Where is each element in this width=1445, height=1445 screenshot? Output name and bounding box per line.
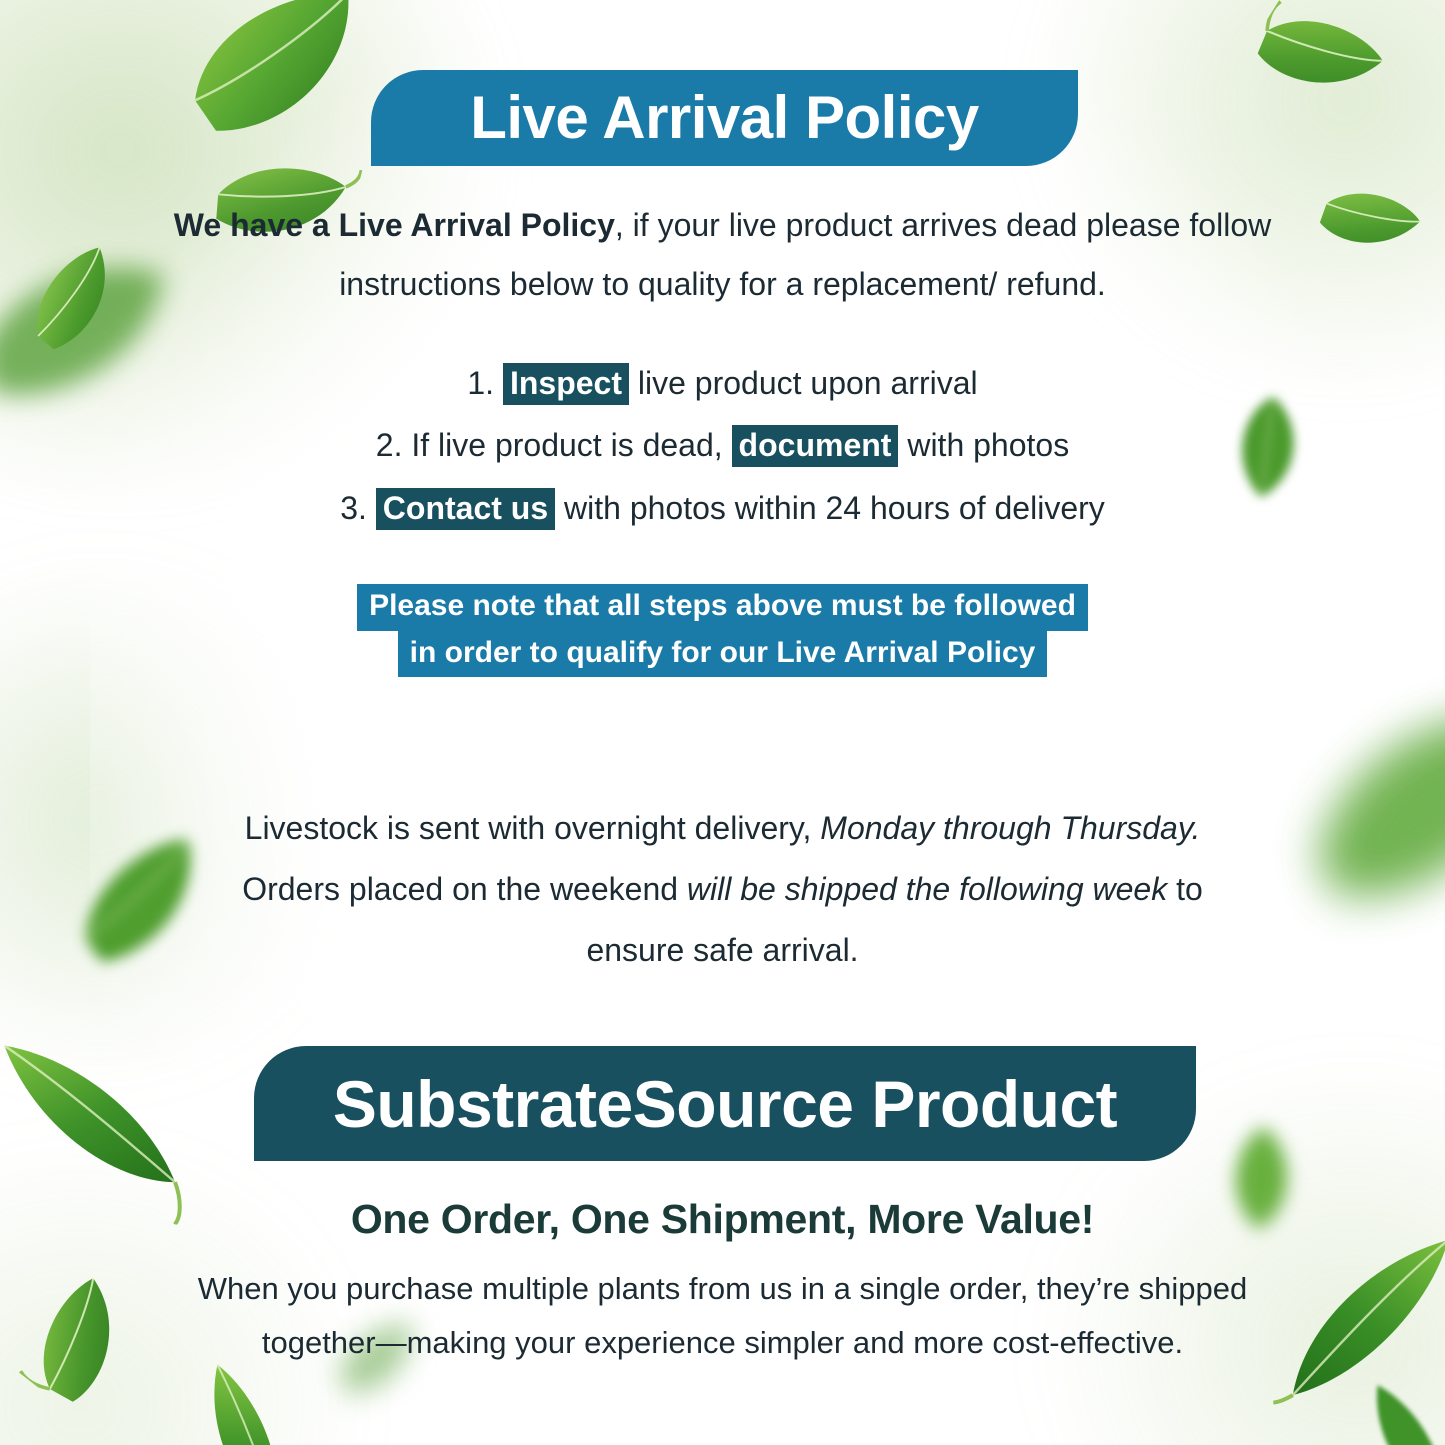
leaf-icon [1262,1232,1445,1415]
step-post: with photos within 24 hours of delivery [564,490,1105,526]
step-post: with photos [907,427,1069,463]
leaf-icon [1279,665,1445,944]
step-highlight: Inspect [503,363,629,405]
live-arrival-policy-banner: Live Arrival Policy [371,70,1078,166]
background-wash-top-right [1045,0,1445,380]
note-line-2: in order to qualify for our Live Arrival… [398,631,1048,678]
intro-paragraph: We have a Live Arrival Policy, if your l… [160,196,1285,314]
list-item: 1. Inspect live product upon arrival [160,352,1285,414]
outro-line-1: When you purchase multiple plants from u… [198,1271,1247,1306]
live-arrival-policy-title: Live Arrival Policy [470,88,979,148]
step-highlight: document [732,425,899,467]
outro-paragraph: When you purchase multiple plants from u… [160,1262,1285,1371]
substrate-source-product-banner: SubstrateSource Product [254,1046,1196,1161]
intro-bold-lead: We have a Live Arrival Policy [174,207,615,243]
leaf-icon [1237,0,1403,136]
shipping-italic-2: will be shipped the following week [687,871,1167,907]
shipping-paragraph: Livestock is sent with overnight deliver… [200,798,1245,980]
value-subheading: One Order, One Shipment, More Value! [160,1196,1285,1243]
live-arrival-policy-page: Live Arrival Policy We have a Live Arriv… [0,0,1445,1445]
leaf-icon [1336,1371,1445,1445]
policy-note-callout: Please note that all steps above must be… [160,584,1285,677]
list-item: 2. If live product is dead, document wit… [160,414,1285,476]
outro-line-2: together—making your experience simpler … [262,1325,1183,1360]
step-number: 1. [467,365,494,401]
leaf-icon [1304,161,1435,284]
substrate-source-product-title: SubstrateSource Product [333,1071,1117,1137]
step-highlight: Contact us [376,488,555,530]
step-number: 3. [340,490,367,526]
list-item: 3. Contact us with photos within 24 hour… [160,477,1285,539]
steps-list: 1. Inspect live product upon arrival 2. … [160,352,1285,539]
shipping-part-2: Orders placed on the weekend [242,871,678,907]
shipping-part-1: Livestock is sent with overnight deliver… [245,810,812,846]
shipping-italic-1: Monday through Thursday. [820,810,1200,846]
leaf-icon [2,1257,164,1423]
step-pre: If live product is dead, [411,427,722,463]
leaf-icon [159,0,401,172]
note-line-1: Please note that all steps above must be… [357,584,1088,631]
step-number: 2. [376,427,403,463]
step-post: live product upon arrival [638,365,978,401]
leaf-icon [2,225,152,370]
